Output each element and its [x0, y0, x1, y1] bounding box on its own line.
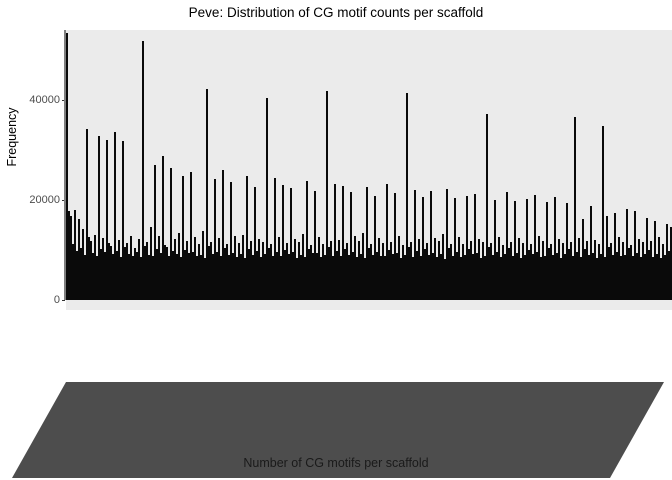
x-axis-title: Number of CG motifs per scaffold: [0, 456, 672, 470]
y-tick-label: 20000: [14, 194, 60, 206]
plot-panel: [66, 30, 672, 310]
y-tick-label: 40000: [14, 94, 60, 106]
y-tick-label: 0: [14, 294, 60, 306]
y-tick-mark: [62, 300, 65, 301]
chart-plot-area: Peve: Distribution of CG motif counts pe…: [0, 0, 672, 480]
histogram-bars: [66, 30, 672, 300]
y-axis-ticks: 02000040000: [10, 0, 60, 480]
chart-title: Peve: Distribution of CG motif counts pe…: [0, 4, 672, 22]
